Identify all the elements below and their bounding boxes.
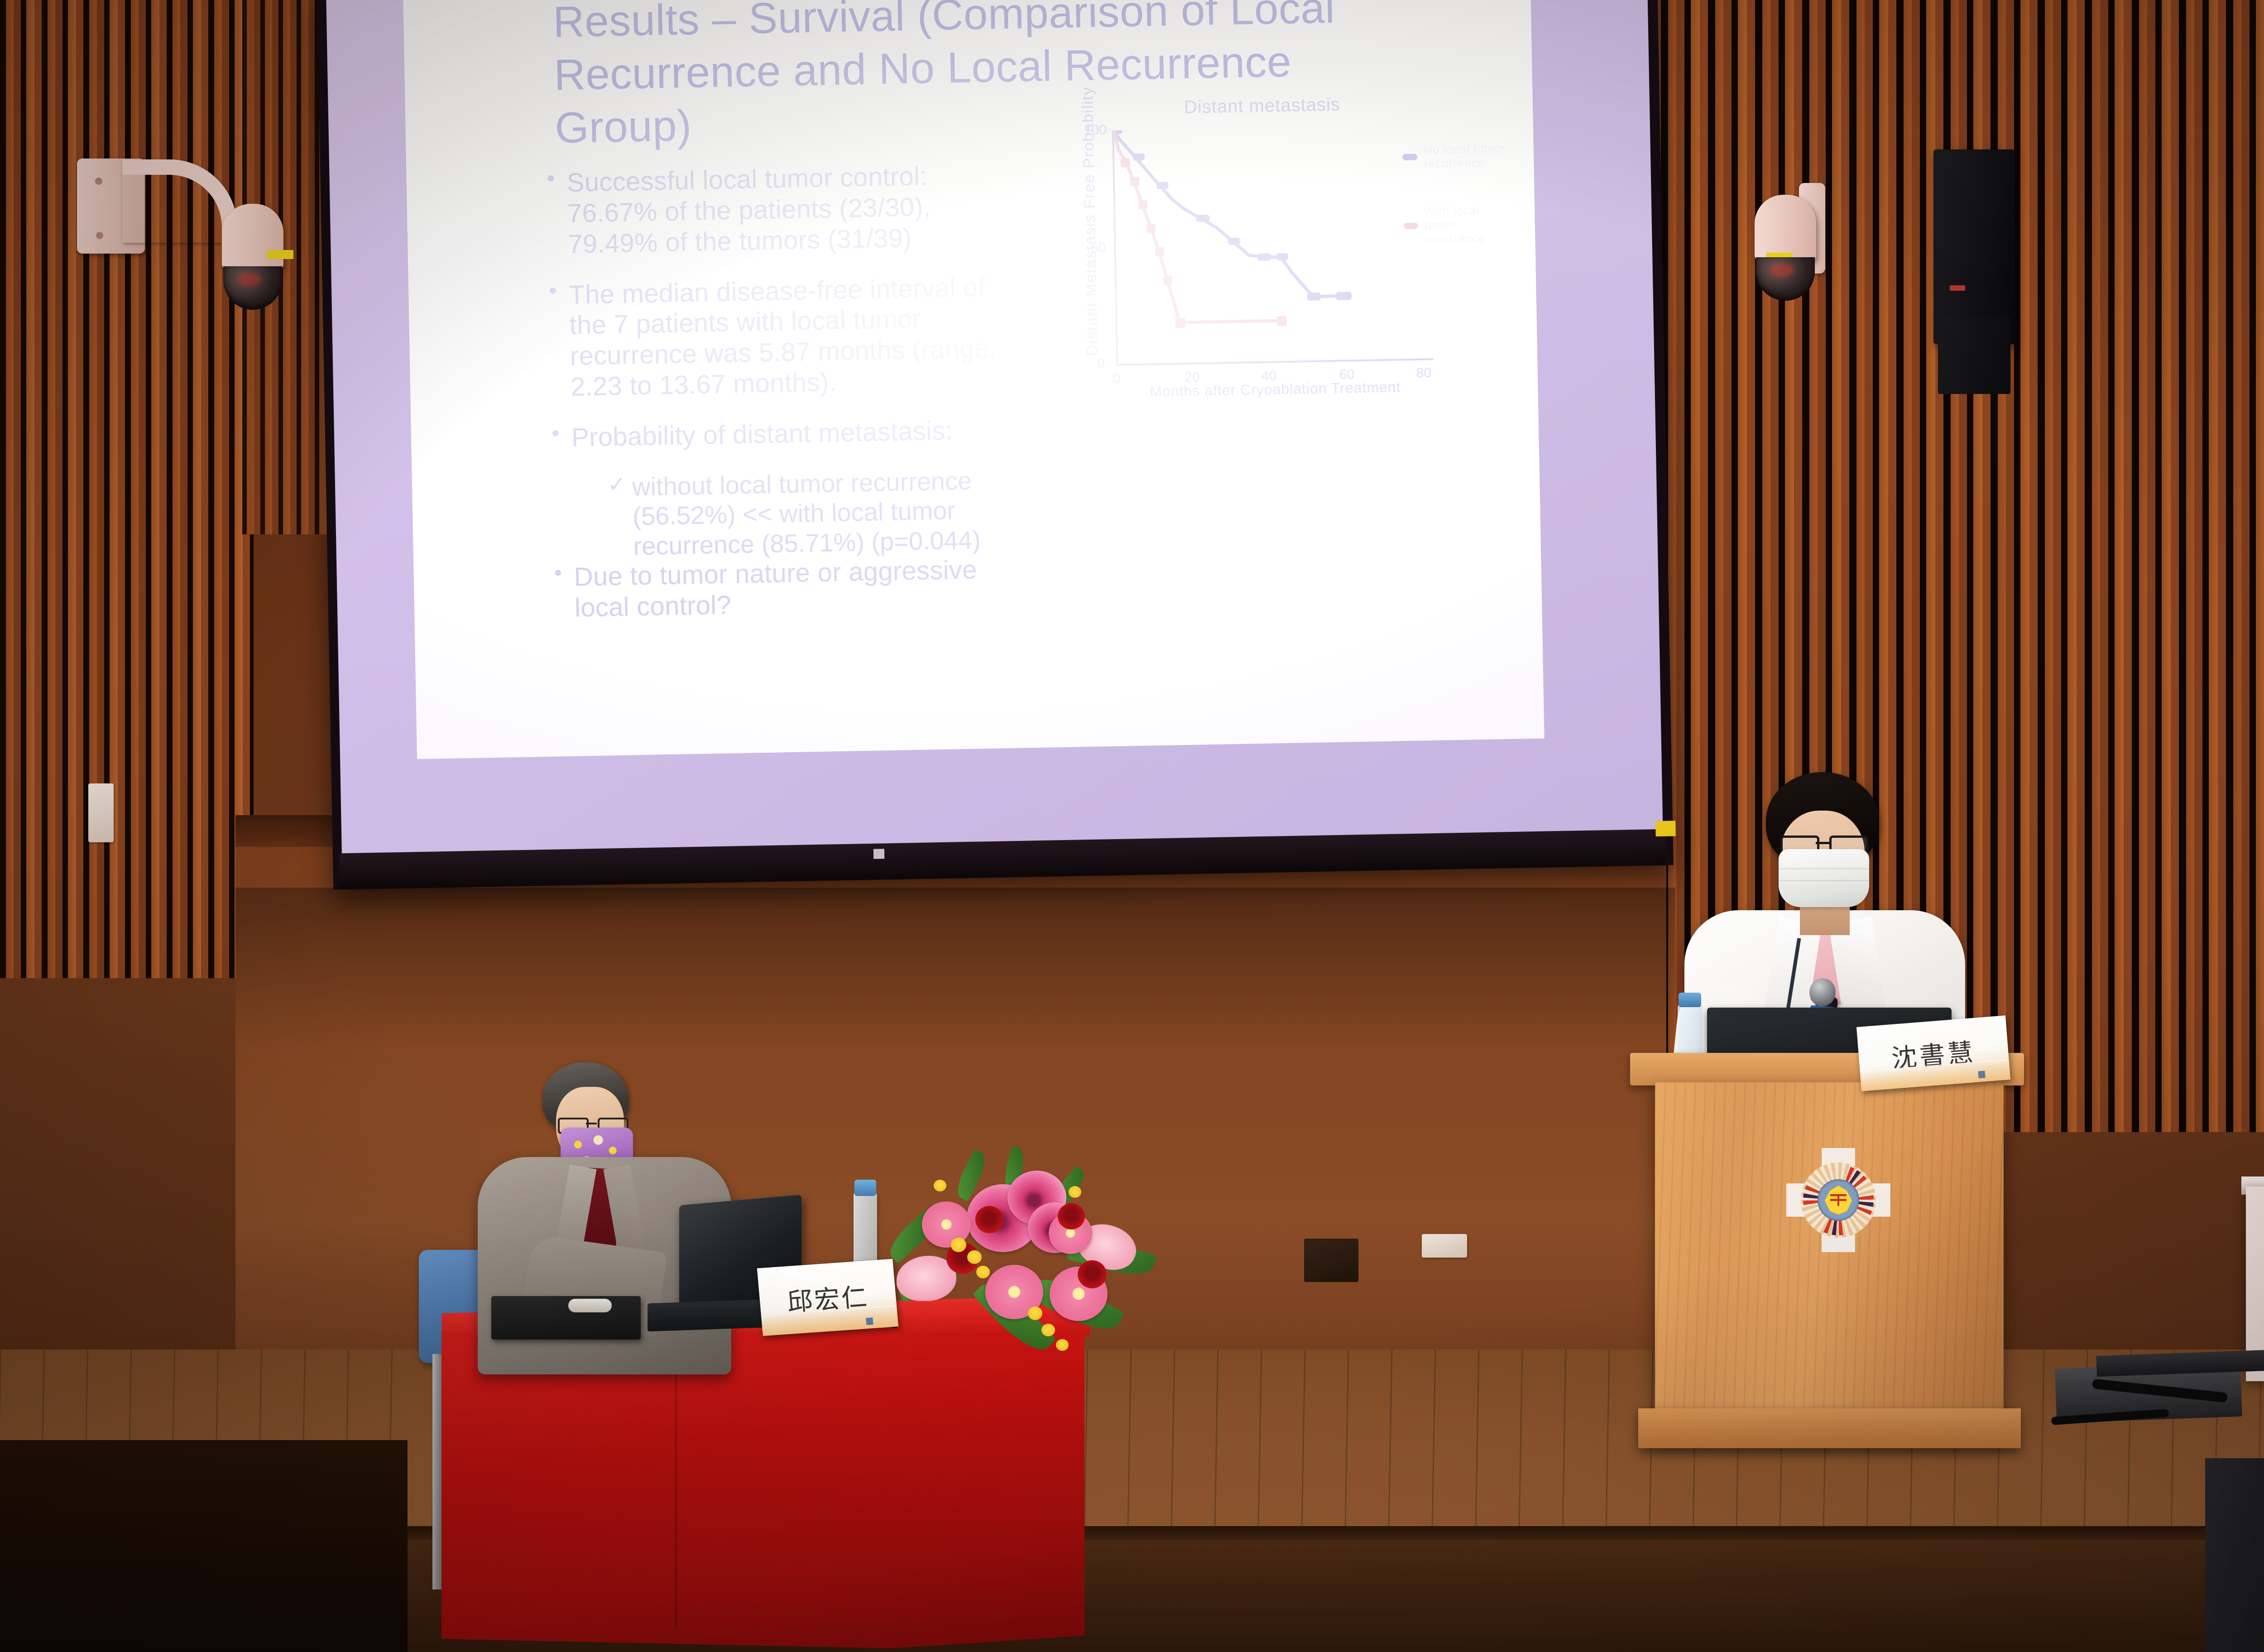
chart-legend: No local tumor recurrence With local tum… [1402, 141, 1514, 280]
chart-ytick-0: 0 [1097, 356, 1105, 371]
equipment-tray [491, 1296, 641, 1340]
water-bottle-cap[interactable] [854, 1180, 876, 1196]
tablecloth-seam [675, 1340, 677, 1630]
chart-ytick-50: 50 [1090, 240, 1106, 256]
table-microphone[interactable] [568, 1299, 612, 1312]
wooden-slat-wall-left [0, 0, 254, 978]
chart-series-lines [1112, 125, 1433, 366]
water-bottle-podium-cap[interactable] [1679, 993, 1701, 1007]
screen-yellow-sticker [1655, 821, 1676, 836]
floor-shadow-left [0, 1440, 408, 1652]
screen-bar-tag [873, 849, 884, 859]
projection-screen: Results – Survival (Comparison of Local … [317, 0, 1674, 890]
chart-xtick-20: 20 [1185, 370, 1200, 385]
podium-body [1655, 1082, 2004, 1440]
camera-housing [222, 204, 283, 272]
oncidium-orchid [1041, 1324, 1055, 1336]
lecture-hall-photo: Results – Survival (Comparison of Local … [0, 0, 2264, 1652]
oncidium-orchid [967, 1250, 982, 1264]
wall-shadow-band [235, 888, 1675, 1051]
wall-plate-left [88, 783, 114, 842]
bracket-screw [96, 232, 103, 239]
podium-wood-grain [1655, 1082, 2004, 1440]
red-tablecloth [441, 1331, 1084, 1648]
oncidium-orchid [1069, 1186, 1081, 1198]
chart-xtick-60: 60 [1339, 367, 1355, 383]
flower-arrangement [878, 1153, 1159, 1365]
slide-bullet-3: Probability of distant metastasis: [547, 414, 1005, 453]
oncidium-orchid [934, 1180, 946, 1191]
oncidium-orchid [1056, 1339, 1069, 1351]
series-with-recurrence-markers [1121, 155, 1287, 329]
glasses-bridge [586, 1123, 597, 1124]
chart-xtick-80: 80 [1416, 365, 1432, 381]
oncidium-orchid [951, 1238, 966, 1252]
series-no-recurrence-markers [1112, 125, 1352, 304]
wall-switch-plate [1422, 1234, 1467, 1258]
bracket-screw [95, 178, 102, 185]
chair-leg [432, 1354, 441, 1590]
legend-label-with-recurrence: With local tumor recurrence [1424, 203, 1513, 247]
camera-label [267, 250, 293, 259]
legend-entry-no-recurrence: No local tumor recurrence [1402, 141, 1511, 171]
legend-label-no-recurrence: No local tumor recurrence [1424, 141, 1511, 171]
chart-title: Distant metastasis [1184, 95, 1341, 118]
legend-swatch-with-recurrence [1404, 222, 1418, 229]
wall-speaker [1933, 149, 2015, 344]
av-equipment-shadow [2205, 1458, 2264, 1652]
chart-xtick-0: 0 [1113, 371, 1121, 387]
red-rose [1058, 1203, 1085, 1229]
wall-outlet-box [1304, 1239, 1358, 1282]
placard-speaker: 沈書慧 [1856, 1015, 2010, 1091]
series-no-recurrence-line [1114, 126, 1345, 300]
oncidium-orchid [976, 1266, 990, 1278]
red-rose [975, 1206, 1003, 1233]
red-rose [1078, 1260, 1107, 1288]
wall-speaker-base [1938, 317, 2010, 394]
slide-bullet-list: Successful local tumor control: 76.67% o… [542, 159, 1008, 644]
slide-bullet-1: Successful local tumor control: 76.67% o… [542, 159, 1001, 260]
hospital-emblem-podium [1786, 1148, 1890, 1252]
placard-moderator: 邱宏仁 [757, 1259, 898, 1336]
glasses-bridge [1816, 842, 1829, 844]
podium-base [1638, 1408, 2021, 1448]
slide-bullet-2: The median disease-free interval of the … [544, 272, 1004, 403]
chart-plot-area: 100 50 0 0 20 40 60 80 [1112, 125, 1433, 366]
chart-ytick-100: 100 [1084, 122, 1107, 138]
oncidium-orchid [1028, 1306, 1042, 1320]
slide-bullet-4: Due to tumor nature or aggressive local … [549, 554, 1007, 624]
speaker-face-mask [1779, 849, 1869, 907]
chart-xtick-40: 40 [1262, 368, 1277, 384]
legend-swatch-no-recurrence [1402, 154, 1418, 161]
projected-slide: Results – Survival (Comparison of Local … [403, 0, 1545, 759]
legend-entry-with-recurrence: With local tumor recurrence [1403, 203, 1513, 247]
km-chart: Distant metastasis Distant Metastasis Fr… [1048, 91, 1516, 413]
slide-sub-bullet: without local tumor recurrence (56.52%) … [606, 465, 1007, 562]
